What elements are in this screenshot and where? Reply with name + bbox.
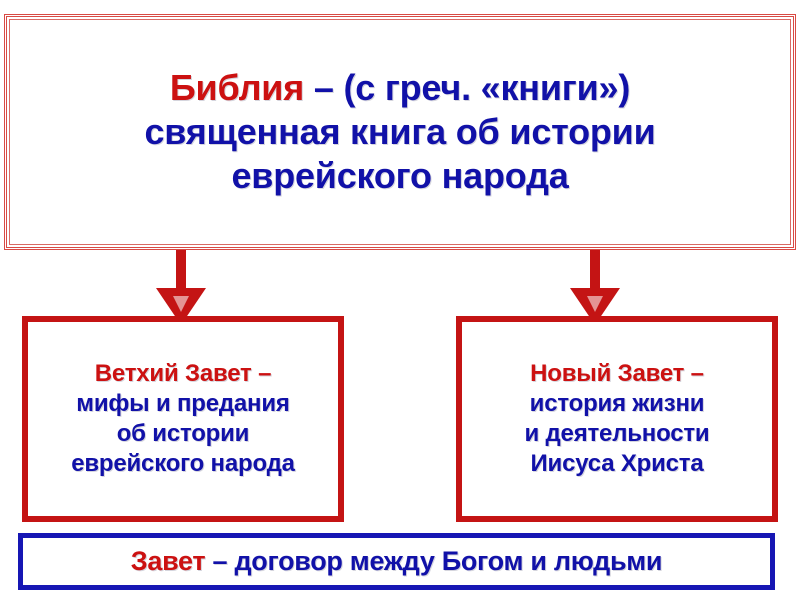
new-testament-text: Новый Завет – история жизни и деятельнос… bbox=[518, 359, 715, 480]
slide-canvas: Библия – (с греч. «книги») священная кни… bbox=[0, 0, 800, 600]
old-testament-text: Ветхий Завет – мифы и предания об истори… bbox=[65, 359, 301, 480]
title-text: Библия – (с греч. «книги») священная кни… bbox=[130, 66, 669, 198]
arrow-shaft bbox=[590, 250, 600, 290]
footer-definition-box: Завет – договор между Богом и людьми bbox=[18, 533, 775, 590]
arrow-notch bbox=[173, 296, 189, 312]
new-testament-box: Новый Завет – история жизни и деятельнос… bbox=[456, 316, 778, 522]
old-testament-term: Ветхий Завет – bbox=[95, 360, 271, 387]
title-box-inner-border: Библия – (с греч. «книги») священная кни… bbox=[9, 19, 791, 245]
title-term: Библия bbox=[170, 67, 304, 108]
old-testament-box: Ветхий Завет – мифы и предания об истори… bbox=[22, 316, 344, 522]
footer-definition: – договор между Богом и людьми bbox=[205, 546, 662, 576]
arrow-shaft bbox=[176, 250, 186, 290]
footer-text: Завет – договор между Богом и людьми bbox=[131, 546, 662, 577]
new-testament-definition: история жизни и деятельности Иисуса Хрис… bbox=[524, 390, 709, 477]
down-arrow-icon-right bbox=[566, 250, 624, 324]
arrow-notch bbox=[587, 296, 603, 312]
footer-term: Завет bbox=[131, 546, 206, 576]
down-arrow-icon-left bbox=[152, 250, 210, 324]
new-testament-term: Новый Завет – bbox=[530, 360, 704, 387]
old-testament-definition: мифы и предания об истории еврейского на… bbox=[71, 390, 295, 477]
title-box: Библия – (с греч. «книги») священная кни… bbox=[4, 14, 796, 250]
